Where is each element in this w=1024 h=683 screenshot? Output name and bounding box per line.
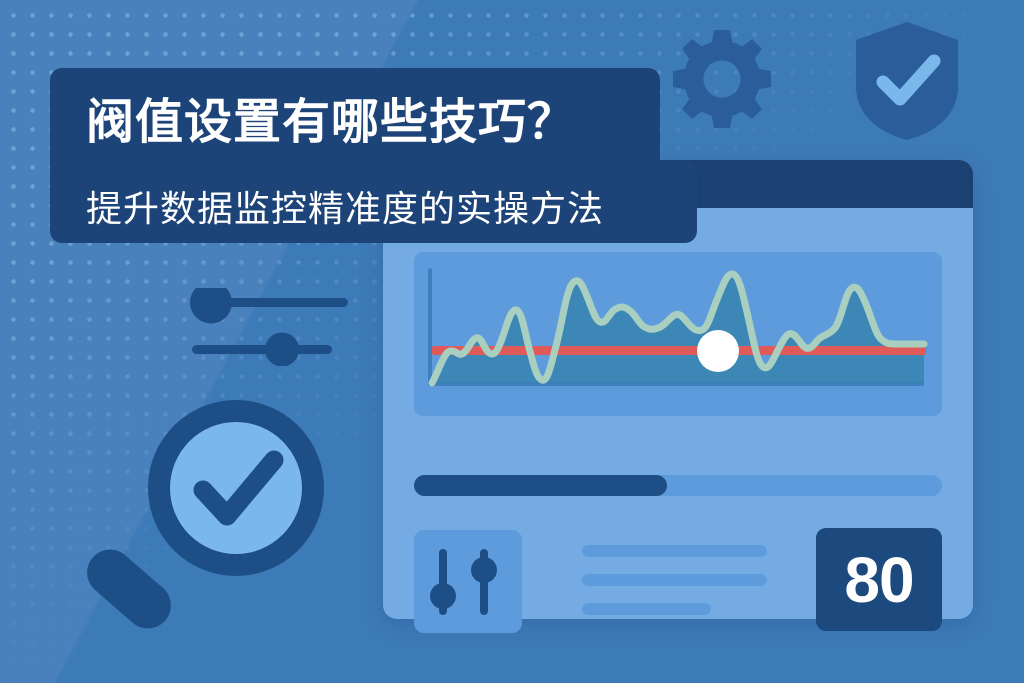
page-title: 阀值设置有哪些技巧？ [86, 82, 576, 152]
title-banner-block: 阀值设置有哪些技巧？ [50, 68, 660, 161]
threshold-line [432, 346, 926, 355]
subtitle-banner-block: 提升数据监控精准度的实操方法 [50, 161, 697, 243]
value-badge-text: 80 [844, 548, 913, 612]
equalizer-icon [414, 530, 522, 633]
text-placeholder-line [582, 574, 767, 586]
value-badge: 80 [816, 528, 942, 631]
panel-body: 80 [383, 208, 973, 619]
page-subtitle: 提升数据监控精准度的实操方法 [86, 180, 604, 232]
magnifier-check-icon [78, 398, 328, 640]
shield-check-icon [852, 20, 962, 142]
progress-bar-track[interactable] [414, 475, 942, 496]
chart-card [414, 252, 942, 416]
slider-controls-icon [190, 288, 350, 366]
threshold-line-chart [414, 252, 942, 416]
equalizer-tile[interactable] [414, 530, 522, 633]
gear-icon [673, 30, 771, 128]
text-placeholder-line [582, 603, 711, 615]
chart-marker-dot [697, 330, 739, 372]
text-placeholder-line [582, 545, 767, 557]
panel-bottom-row: 80 [414, 530, 942, 633]
text-placeholder-lines [582, 545, 767, 632]
progress-bar-fill [414, 475, 667, 496]
